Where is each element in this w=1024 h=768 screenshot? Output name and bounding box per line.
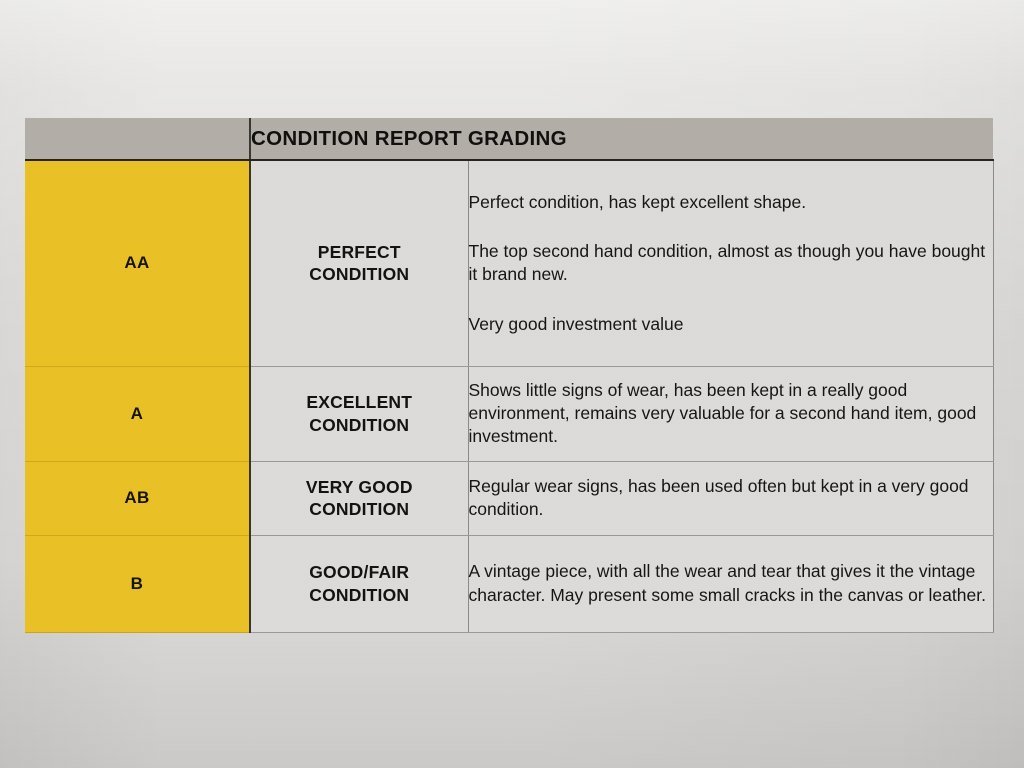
description-paragraph: Shows little signs of wear, has been kep… [469, 379, 993, 449]
condition-name-line-1: PERFECT [318, 242, 401, 262]
table-row: AA PERFECT CONDITION Perfect condition, … [25, 160, 993, 366]
condition-name-line-2: CONDITION [309, 264, 409, 284]
condition-name-line-2: CONDITION [309, 415, 409, 435]
condition-name-aa: PERFECT CONDITION [250, 160, 468, 366]
condition-name-line-1: GOOD/FAIR [309, 562, 409, 582]
grade-badge-ab: AB [25, 461, 250, 535]
table-row: AB VERY GOOD CONDITION Regular wear sign… [25, 461, 993, 535]
table-row: A EXCELLENT CONDITION Shows little signs… [25, 366, 993, 461]
condition-report-grading-table: CONDITION REPORT GRADING AA PERFECT COND… [25, 118, 994, 633]
description-paragraph: A vintage piece, with all the wear and t… [469, 560, 993, 607]
table-header-row: CONDITION REPORT GRADING [25, 118, 993, 160]
condition-description-aa: Perfect condition, has kept excellent sh… [468, 160, 993, 366]
condition-name-line-2: CONDITION [309, 499, 409, 519]
condition-name-line-2: CONDITION [309, 585, 409, 605]
condition-name-b: GOOD/FAIR CONDITION [250, 535, 468, 632]
condition-description-b: A vintage piece, with all the wear and t… [468, 535, 993, 632]
condition-name-a: EXCELLENT CONDITION [250, 366, 468, 461]
table-row: B GOOD/FAIR CONDITION A vintage piece, w… [25, 535, 993, 632]
condition-name-ab: VERY GOOD CONDITION [250, 461, 468, 535]
condition-description-ab: Regular wear signs, has been used often … [468, 461, 993, 535]
grade-badge-b: B [25, 535, 250, 632]
description-paragraph: Very good investment value [469, 313, 993, 336]
grade-badge-a: A [25, 366, 250, 461]
grade-badge-aa: AA [25, 160, 250, 366]
table-title: CONDITION REPORT GRADING [250, 118, 993, 160]
condition-name-line-1: EXCELLENT [306, 392, 412, 412]
condition-report-sheet: CONDITION REPORT GRADING AA PERFECT COND… [0, 0, 1024, 768]
description-paragraph: The top second hand condition, almost as… [469, 240, 993, 287]
description-paragraph: Perfect condition, has kept excellent sh… [469, 191, 993, 214]
description-paragraph: Regular wear signs, has been used often … [469, 475, 993, 522]
condition-name-line-1: VERY GOOD [306, 477, 413, 497]
condition-description-a: Shows little signs of wear, has been kep… [468, 366, 993, 461]
header-spacer-cell [25, 118, 250, 160]
